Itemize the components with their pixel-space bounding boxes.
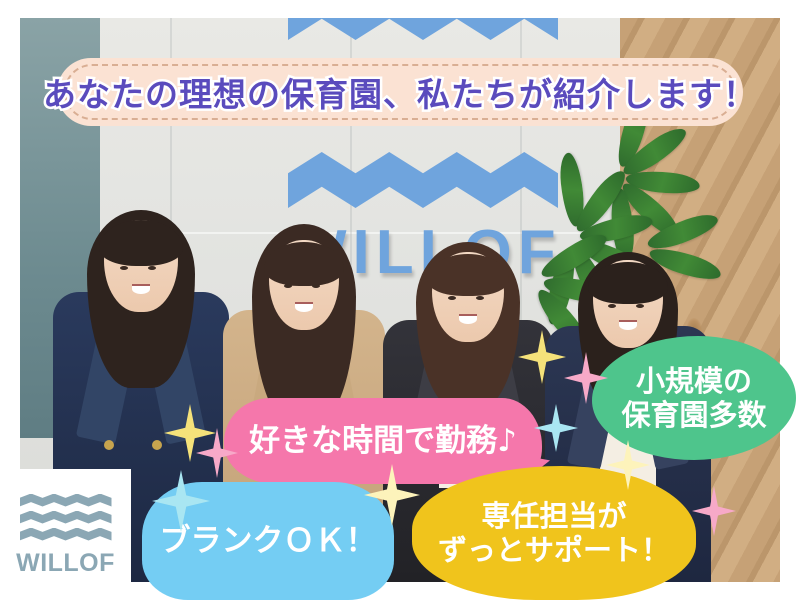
badge-small-nursery-line1: 小規模の bbox=[621, 364, 766, 398]
badge-flexible-hours: 好きな時間で勤務♪ bbox=[224, 398, 542, 484]
headline-banner: あなたの理想の保育園、私たちが紹介します！ bbox=[57, 58, 743, 126]
badge-dedicated-support-line1: 専任担当が bbox=[438, 499, 670, 533]
badge-small-nursery-line2: 保育園多数 bbox=[621, 398, 766, 432]
badge-dedicated-support-line2: ずっとサポート！ bbox=[438, 533, 670, 567]
headline-text: あなたの理想の保育園、私たちが紹介します！ bbox=[43, 68, 757, 116]
person-1-button-2 bbox=[152, 440, 162, 450]
advertisement-banner: WILLOF bbox=[0, 0, 800, 600]
wall-logo-zigzag-1 bbox=[288, 18, 558, 40]
person-1-button-1 bbox=[104, 440, 114, 450]
willof-logo-zigzag-1 bbox=[20, 494, 112, 507]
badge-blank-ok-text: ブランクＯＫ！ bbox=[160, 523, 377, 560]
badge-small-nursery: 小規模の 保育園多数 bbox=[592, 336, 796, 460]
badge-dedicated-support: 専任担当が ずっとサポート！ bbox=[412, 466, 696, 600]
badge-flexible-hours-text: 好きな時間で勤務♪ bbox=[249, 423, 517, 460]
willof-logo-zigzag-2 bbox=[20, 511, 112, 524]
willof-wordmark: WILLOF bbox=[16, 551, 115, 576]
willof-logo: WILLOF bbox=[0, 469, 131, 600]
willof-logo-zigzag-3 bbox=[20, 528, 112, 541]
